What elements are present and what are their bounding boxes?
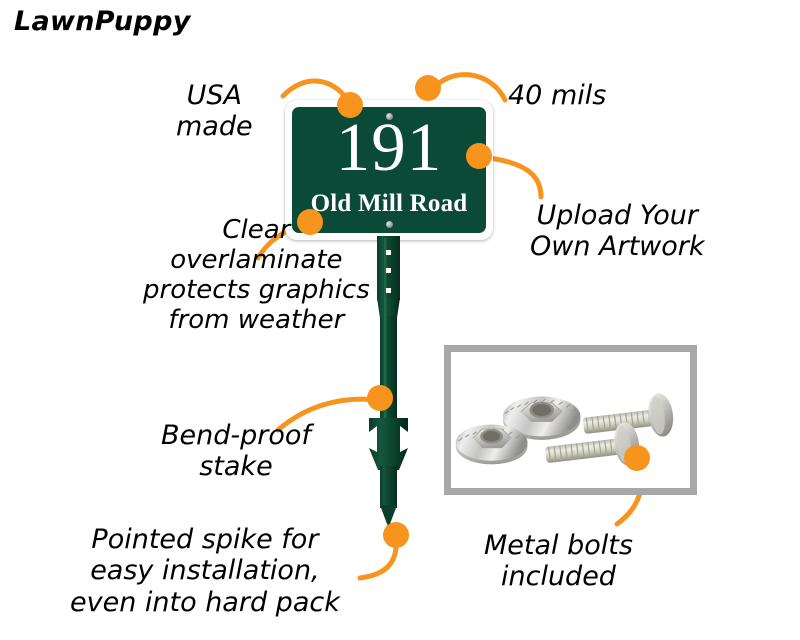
callout-line: made xyxy=(176,111,253,142)
callout-line: Bend-proof xyxy=(161,420,311,451)
callout-line: USA xyxy=(176,80,253,111)
callout-40-mils: 40 mils xyxy=(508,80,606,111)
callout-dot-usa-made[interactable] xyxy=(337,92,363,118)
callout-pointed-spike: Pointed spike for easy installation, eve… xyxy=(70,524,340,618)
callout-line: even into hard pack xyxy=(70,587,340,618)
callout-line: easy installation, xyxy=(70,555,340,586)
callout-clear-overlaminate: Clear overlaminate protects graphics fro… xyxy=(143,215,370,336)
callout-line: included xyxy=(484,561,633,592)
callout-dot-pointed-spike[interactable] xyxy=(383,522,409,548)
callout-usa-made: USA made xyxy=(176,80,253,143)
callout-line: stake xyxy=(161,451,311,482)
callout-line: Metal bolts xyxy=(484,530,633,561)
callout-line: Pointed spike for xyxy=(70,524,340,555)
callout-line: Own Artwork xyxy=(530,231,705,262)
callout-bend-proof-stake: Bend-proof stake xyxy=(161,420,311,483)
callout-line: Clear xyxy=(143,215,370,245)
callout-line: Upload Your xyxy=(530,200,705,231)
callout-dot-bend-proof-stake[interactable] xyxy=(367,385,393,411)
callout-metal-bolts: Metal bolts included xyxy=(484,530,633,593)
callout-line: from weather xyxy=(143,305,370,335)
callout-line: 40 mils xyxy=(508,80,606,111)
infographic-canvas: LawnPuppy 191 Old Mill Road xyxy=(0,0,800,640)
callout-dot-metal-bolts[interactable] xyxy=(624,445,650,471)
callout-dot-upload-artwork[interactable] xyxy=(466,143,492,169)
callout-line: overlaminate xyxy=(143,245,370,275)
callout-dot-40-mils[interactable] xyxy=(415,75,441,101)
callout-line: protects graphics xyxy=(143,275,370,305)
callout-upload-artwork: Upload Your Own Artwork xyxy=(530,200,705,263)
